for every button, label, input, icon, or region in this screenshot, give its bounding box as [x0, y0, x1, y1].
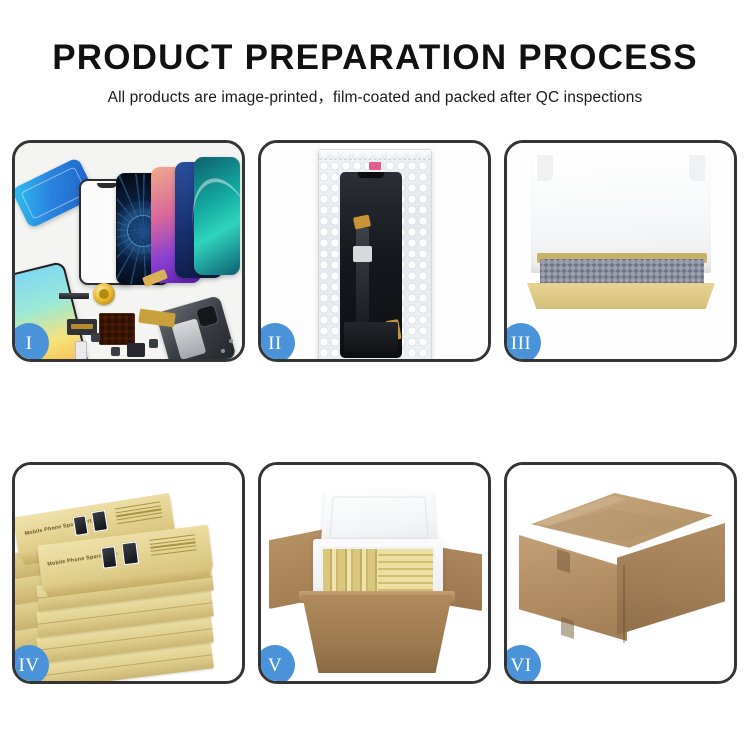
button-part-icon-3	[91, 333, 100, 342]
step-4-image: Mobile Phone Spare Parts Mobile Phone Sp…	[15, 465, 242, 681]
sealed-carton	[519, 493, 725, 659]
process-step-panel-4[interactable]: Mobile Phone Spare Parts Mobile Phone Sp…	[12, 462, 245, 684]
lcd-flex-cable	[356, 228, 369, 324]
chip-icon	[75, 341, 87, 359]
carton-body	[302, 595, 452, 673]
button-part-icon-2	[149, 339, 158, 348]
camera-module-icon	[195, 304, 220, 329]
screen-notch	[358, 172, 384, 178]
header: PRODUCT PREPARATION PROCESS All products…	[0, 0, 750, 108]
lcd-screen-assembly	[340, 172, 402, 358]
logic-board-icon	[99, 313, 135, 345]
process-step-panel-1[interactable]: I	[12, 140, 245, 362]
kraft-box-front-panel	[527, 283, 715, 309]
carton-tape-patch-bottom	[561, 617, 574, 639]
gold-contact-1	[353, 214, 371, 229]
process-step-panel-2[interactable]: II	[258, 140, 491, 362]
lcd-driver-board	[344, 322, 398, 352]
box-window-front-1	[100, 545, 119, 570]
box-spec-lines-front	[149, 534, 197, 558]
bubble-wrap-bag	[318, 149, 432, 359]
process-step-grid: I II	[12, 140, 738, 685]
earpiece-speaker-icon	[59, 293, 89, 299]
lcd-connector	[353, 246, 372, 262]
process-step-panel-5[interactable]: V	[258, 462, 491, 684]
screw-icon-1	[221, 349, 225, 353]
box-window-front-2	[120, 540, 140, 566]
page-subtitle: All products are image-printed，film-coat…	[0, 78, 750, 108]
phone-teal-display-icon	[194, 157, 240, 275]
wireless-charging-coil-icon	[93, 283, 115, 305]
step-badge-3: III	[507, 323, 541, 359]
page-title: PRODUCT PREPARATION PROCESS	[0, 0, 750, 78]
carton-tape-patch-top	[557, 549, 570, 573]
step-badge-5: V	[261, 645, 295, 681]
screw-icon-2	[229, 339, 233, 343]
box-window-back-1	[72, 514, 90, 537]
step-2-image: II	[261, 143, 488, 359]
step-3-image: III	[507, 143, 734, 359]
step-1-image: I	[15, 143, 242, 359]
step-5-image: V	[261, 465, 488, 681]
pink-label-sticker	[369, 162, 381, 170]
carton-vertical-edge	[623, 565, 625, 643]
process-step-panel-6[interactable]: VI	[504, 462, 737, 684]
step-6-image: VI	[507, 465, 734, 681]
button-part-icon-1	[111, 347, 120, 356]
box-stack: Mobile Phone Spare Parts Mobile Phone Sp…	[15, 479, 242, 679]
bag-seal	[319, 150, 431, 160]
process-step-panel-3[interactable]: III	[504, 140, 737, 362]
box-spec-lines-back	[115, 501, 163, 526]
step-badge-2: II	[261, 323, 295, 359]
box-window-back-2	[90, 509, 109, 533]
yellow-boxes-right-group	[378, 549, 433, 596]
loudspeaker-icon	[127, 343, 145, 357]
product-preparation-process-page: PRODUCT PREPARATION PROCESS All products…	[0, 0, 750, 750]
